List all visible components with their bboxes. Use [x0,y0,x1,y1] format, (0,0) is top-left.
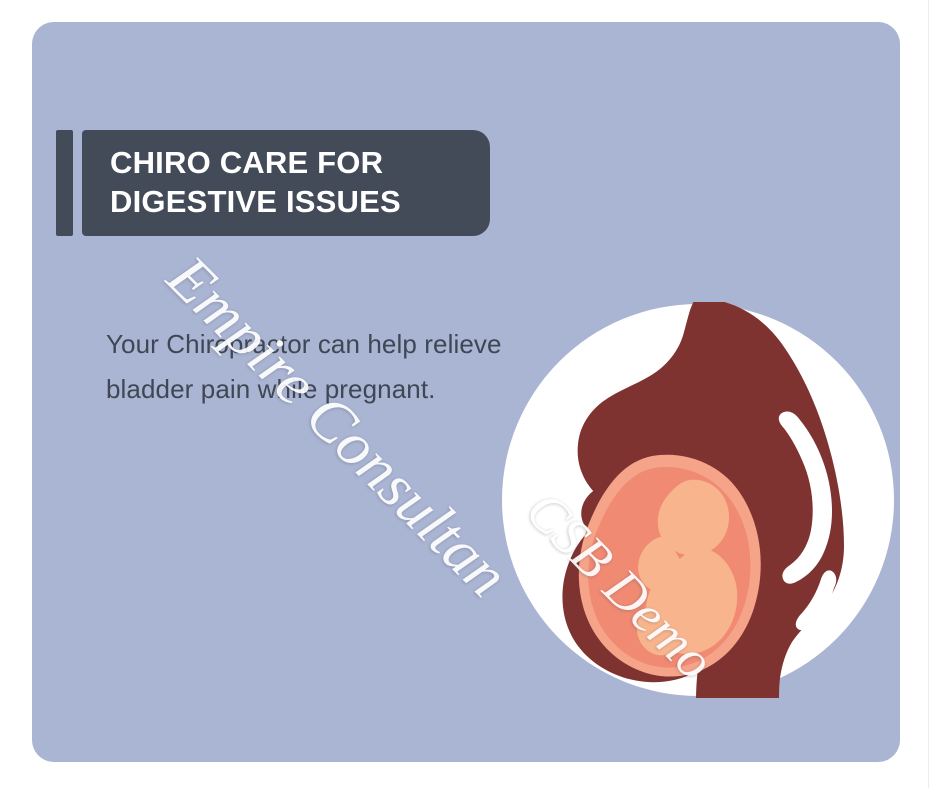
page-root: CHIRO CARE FOR DIGESTIVE ISSUES Your Chi… [0,0,940,788]
title-accent-bar [56,130,73,236]
slide-card: CHIRO CARE FOR DIGESTIVE ISSUES Your Chi… [32,22,900,762]
page-title-line-2: DIGESTIVE ISSUES [110,182,470,221]
title-banner: CHIRO CARE FOR DIGESTIVE ISSUES [82,130,490,236]
page-title-line-1: CHIRO CARE FOR [110,143,470,182]
illustration-pregnant-woman [500,302,896,698]
body-copy: Your Chiropractor can help relieve bladd… [106,322,526,412]
panel-divider [928,0,929,788]
